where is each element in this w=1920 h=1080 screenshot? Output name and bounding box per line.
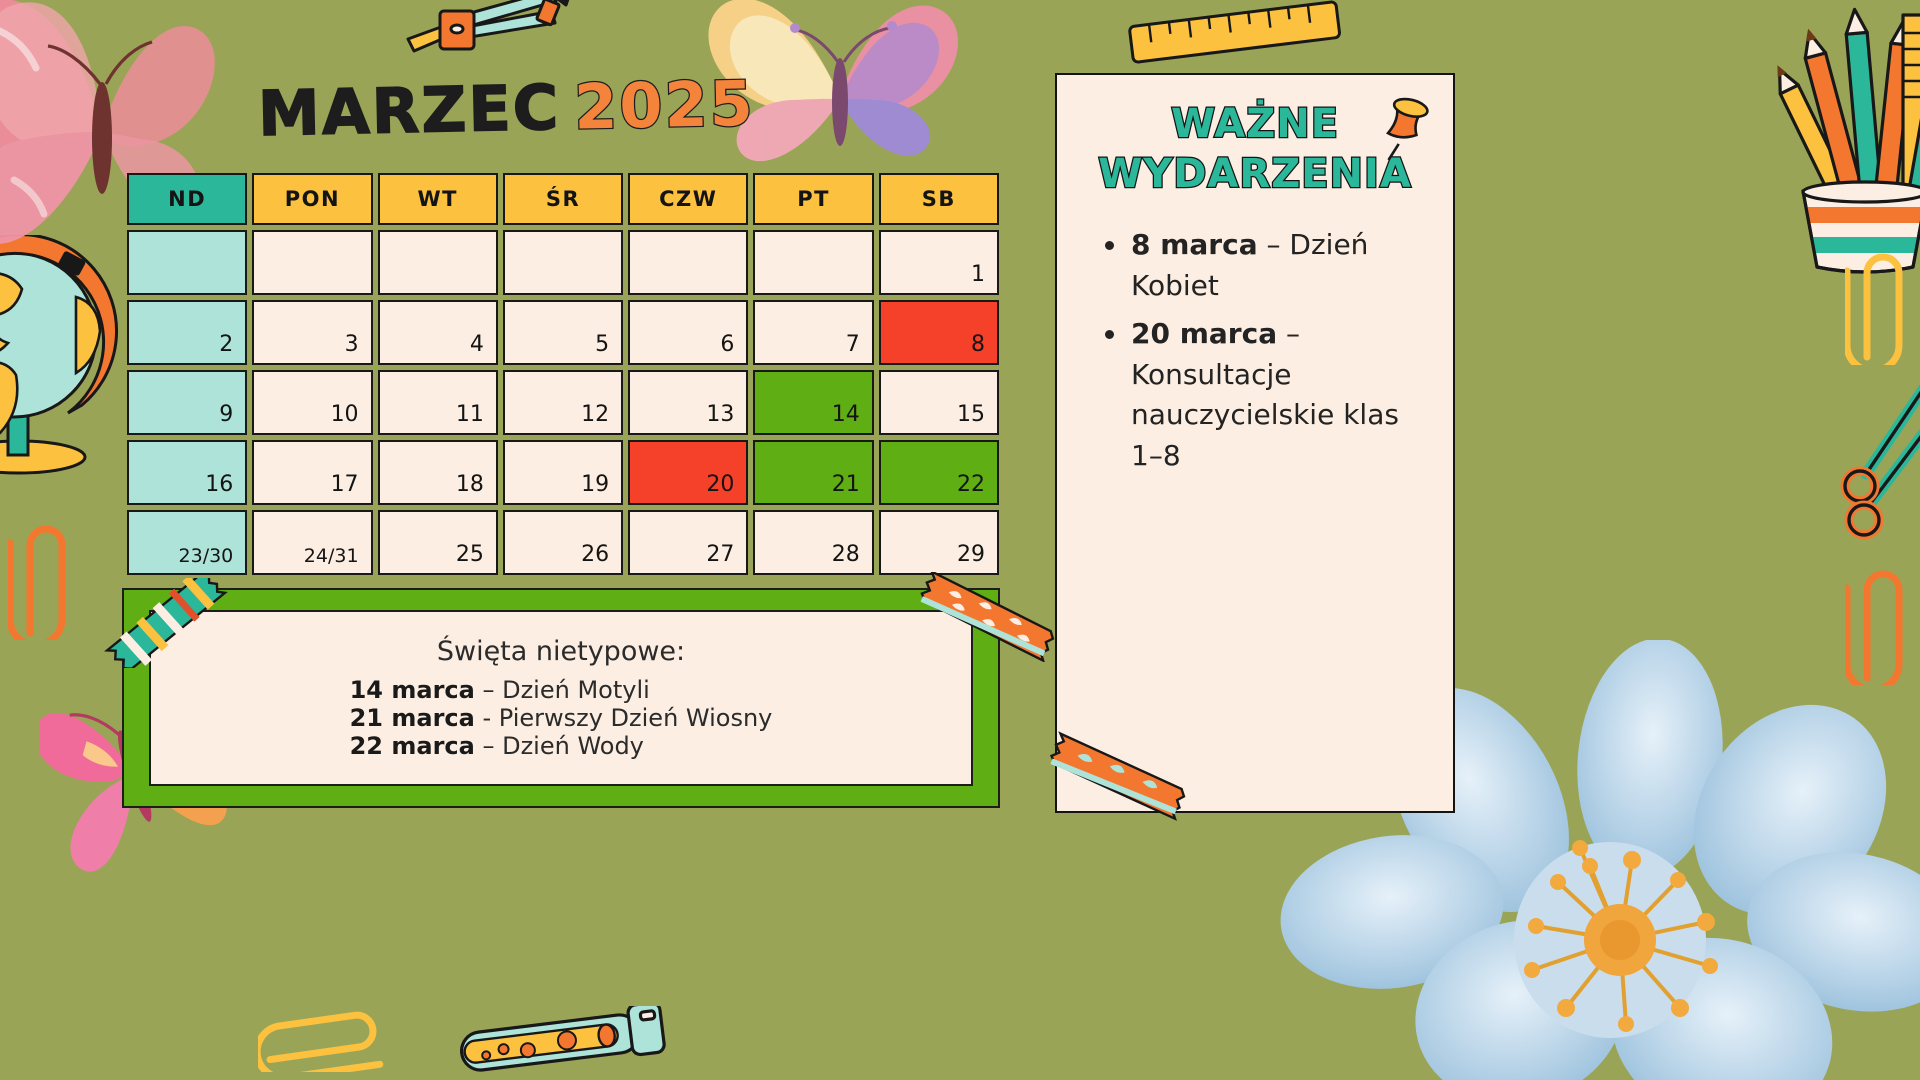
day-cell-empty[interactable]	[628, 230, 748, 295]
day-cell-15[interactable]: 15	[879, 370, 999, 435]
special-holiday-date: 14 marca	[350, 676, 475, 704]
special-holidays-paper: Święta nietypowe: 14 marca – Dzień Motyl…	[149, 610, 973, 786]
day-number: 1	[971, 264, 985, 286]
day-number: 6	[720, 334, 734, 356]
day-cell-4[interactable]: 4	[378, 300, 498, 365]
event-item: 20 marca – Konsultacje nauczycielskie kl…	[1103, 314, 1425, 476]
paperclip-icon	[258, 1010, 388, 1072]
day-cell-26[interactable]: 26	[503, 510, 623, 575]
day-cell-empty[interactable]	[378, 230, 498, 295]
day-cell-8[interactable]: 8	[879, 300, 999, 365]
special-holidays-heading: Święta nietypowe:	[437, 636, 685, 667]
day-number: 7	[846, 334, 860, 356]
events-list: 8 marca – Dzień Kobiet20 marca – Konsult…	[1103, 225, 1425, 477]
day-cell-25[interactable]: 25	[378, 510, 498, 575]
title-year: 2025	[573, 67, 755, 144]
washi-tape-icon	[96, 578, 236, 668]
day-cell-21[interactable]: 21	[753, 440, 873, 505]
day-cell-27[interactable]: 27	[628, 510, 748, 575]
day-cell-14[interactable]: 14	[753, 370, 873, 435]
day-number: 5	[595, 334, 609, 356]
day-number: 8	[971, 334, 985, 356]
day-cell-2[interactable]: 2	[127, 300, 247, 365]
day-number: 10	[331, 404, 359, 426]
ruler-icon	[1125, 0, 1345, 70]
event-date: 8 marca	[1131, 228, 1258, 261]
day-cell-22[interactable]: 22	[879, 440, 999, 505]
day-number: 22	[957, 474, 985, 496]
day-cell-7[interactable]: 7	[753, 300, 873, 365]
day-cell-28[interactable]: 28	[753, 510, 873, 575]
weekday-header-pon: PON	[252, 173, 372, 225]
special-holiday-name: - Pierwszy Dzień Wiosny	[475, 704, 773, 732]
day-number: 13	[706, 404, 734, 426]
day-cell-20[interactable]: 20	[628, 440, 748, 505]
day-number: 15	[957, 404, 985, 426]
day-cell-9[interactable]: 9	[127, 370, 247, 435]
day-cell-10[interactable]: 10	[252, 370, 372, 435]
day-cell-3[interactable]: 3	[252, 300, 372, 365]
day-cell-16[interactable]: 16	[127, 440, 247, 505]
day-cell-18[interactable]: 18	[378, 440, 498, 505]
day-cell-1[interactable]: 1	[879, 230, 999, 295]
day-number: 26	[581, 544, 609, 566]
day-cell-empty[interactable]	[753, 230, 873, 295]
day-cell-5[interactable]: 5	[503, 300, 623, 365]
weekday-header-sb: SB	[879, 173, 999, 225]
day-cell-6[interactable]: 6	[628, 300, 748, 365]
pencil-cup-icon	[1775, 0, 1920, 275]
weekday-header-nd: ND	[127, 173, 247, 225]
day-number: 21	[832, 474, 860, 496]
event-date: 20 marca	[1131, 317, 1277, 350]
washi-tape-icon	[912, 572, 1062, 662]
weekday-header-czw: CZW	[628, 173, 748, 225]
day-cell-24-31[interactable]: 24/31	[252, 510, 372, 575]
weekday-header-pt: PT	[753, 173, 873, 225]
weekday-header-wt: WT	[378, 173, 498, 225]
washi-tape-icon	[1042, 728, 1192, 828]
day-cell-empty[interactable]	[503, 230, 623, 295]
day-number: 18	[456, 474, 484, 496]
day-number: 2	[219, 334, 233, 356]
special-holiday-name: – Dzień Wody	[475, 732, 644, 760]
pushpin-icon	[1375, 97, 1435, 163]
special-holiday-line: 21 marca - Pierwszy Dzień Wiosny	[350, 704, 773, 732]
scissors-icon	[1840, 370, 1920, 550]
paperclip-icon	[1845, 245, 1915, 365]
special-holiday-line: 22 marca – Dzień Wody	[350, 732, 773, 760]
day-cell-19[interactable]: 19	[503, 440, 623, 505]
day-cell-empty[interactable]	[127, 230, 247, 295]
day-number: 25	[456, 544, 484, 566]
compass-icon	[400, 0, 570, 57]
special-holiday-line: 14 marca – Dzień Motyli	[350, 676, 773, 704]
title-month: MARZEC	[257, 71, 561, 150]
day-cell-13[interactable]: 13	[628, 370, 748, 435]
day-number: 9	[219, 404, 233, 426]
special-holiday-name: – Dzień Motyli	[475, 676, 650, 704]
day-cell-23-30[interactable]: 23/30	[127, 510, 247, 575]
day-number: 16	[205, 474, 233, 496]
day-number: 4	[470, 334, 484, 356]
day-cell-29[interactable]: 29	[879, 510, 999, 575]
events-panel: WAŻNE WYDARZENIA 8 marca – Dzień Kobiet2…	[1055, 73, 1455, 813]
calendar-poster: MARZEC2025 NDPONWTŚRCZWPTSB1234567891011…	[0, 0, 1920, 1080]
day-number: 27	[706, 544, 734, 566]
day-cell-empty[interactable]	[252, 230, 372, 295]
weekday-header-śr: ŚR	[503, 173, 623, 225]
day-number: 24/31	[304, 547, 359, 566]
day-number: 11	[456, 404, 484, 426]
event-item: 8 marca – Dzień Kobiet	[1103, 225, 1425, 306]
special-holiday-date: 22 marca	[350, 732, 475, 760]
special-holidays-list: 14 marca – Dzień Motyli21 marca - Pierws…	[350, 676, 773, 760]
day-number: 29	[957, 544, 985, 566]
calendar-grid: NDPONWTŚRCZWPTSB123456789101112131415161…	[127, 173, 999, 575]
paperclip-icon	[8, 515, 78, 640]
day-number: 12	[581, 404, 609, 426]
day-number: 17	[331, 474, 359, 496]
day-number: 19	[581, 474, 609, 496]
day-number: 3	[345, 334, 359, 356]
test-tube-icon	[455, 1006, 670, 1076]
day-number: 20	[706, 474, 734, 496]
special-holiday-date: 21 marca	[350, 704, 475, 732]
page-title: MARZEC2025	[257, 67, 755, 150]
day-cell-17[interactable]: 17	[252, 440, 372, 505]
day-cell-12[interactable]: 12	[503, 370, 623, 435]
day-number: 28	[832, 544, 860, 566]
day-number: 14	[832, 404, 860, 426]
day-cell-11[interactable]: 11	[378, 370, 498, 435]
day-number: 23/30	[179, 547, 234, 566]
special-holidays-box: Święta nietypowe: 14 marca – Dzień Motyl…	[122, 588, 1000, 808]
